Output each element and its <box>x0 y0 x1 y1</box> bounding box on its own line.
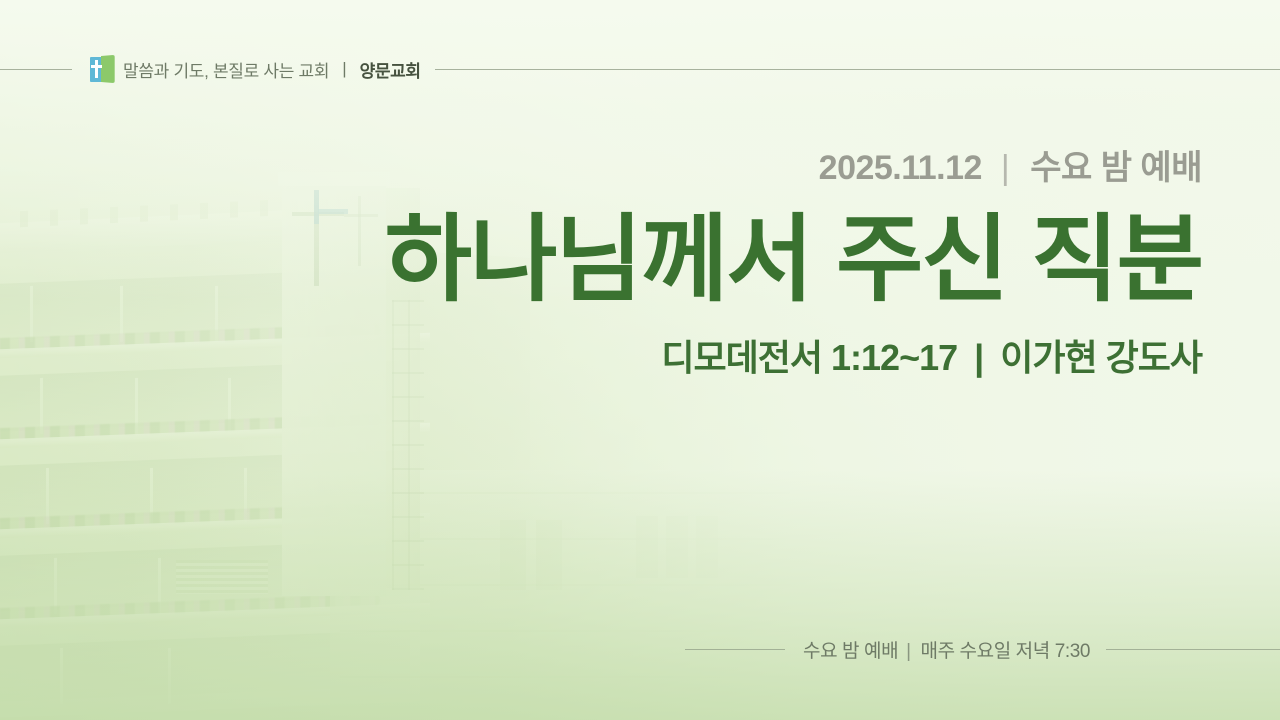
footer-schedule: 수요 밤 예배 | 매주 수요일 저녁 7:30 <box>803 636 1090 663</box>
church-door-cross-icon <box>90 56 114 82</box>
footer-service-name: 수요 밤 예배 <box>803 641 898 662</box>
sermon-title: 하나님께서 주신 직분 <box>62 207 1202 313</box>
header-bar: 말씀과 기도, 본질로 사는 교회 | 양문교회 <box>0 53 1280 85</box>
service-name: 수요 밤 예배 <box>1030 149 1202 187</box>
speaker-name: 이가현 강도사 <box>1000 337 1202 378</box>
footer-bar: 수요 밤 예배 | 매주 수요일 저녁 7:30 <box>0 636 1280 662</box>
photo-fade-bottom <box>0 470 1280 720</box>
service-meta: 2025.11.12 | 수요 밤 예배 <box>62 150 1202 187</box>
sermon-title-slide: 말씀과 기도, 본질로 사는 교회 | 양문교회 2025.11.12 | 수요… <box>0 0 1280 720</box>
header-rule-left <box>0 69 72 70</box>
footer-rule-right <box>1106 649 1280 650</box>
church-name: 양문교회 <box>360 57 421 82</box>
sermon-scripture-line: 디모데전서 1:12~17 | 이가현 강도사 <box>62 336 1202 379</box>
footer-rule-left <box>685 649 785 650</box>
sermon-content: 2025.11.12 | 수요 밤 예배 하나님께서 주신 직분 디모데전서 1… <box>62 150 1202 379</box>
meta-separator: | <box>1001 149 1009 187</box>
service-date: 2025.11.12 <box>819 149 982 187</box>
scripture-reference: 디모데전서 1:12~17 <box>661 337 957 378</box>
footer-schedule-text: 매주 수요일 저녁 7:30 <box>921 641 1091 662</box>
church-brand: 말씀과 기도, 본질로 사는 교회 | 양문교회 <box>90 56 421 82</box>
header-separator: | <box>342 59 346 79</box>
scripture-separator: | <box>974 337 983 378</box>
footer-separator: | <box>906 641 911 662</box>
header-rule-right <box>435 69 1280 70</box>
church-slogan: 말씀과 기도, 본질로 사는 교회 <box>123 57 329 82</box>
